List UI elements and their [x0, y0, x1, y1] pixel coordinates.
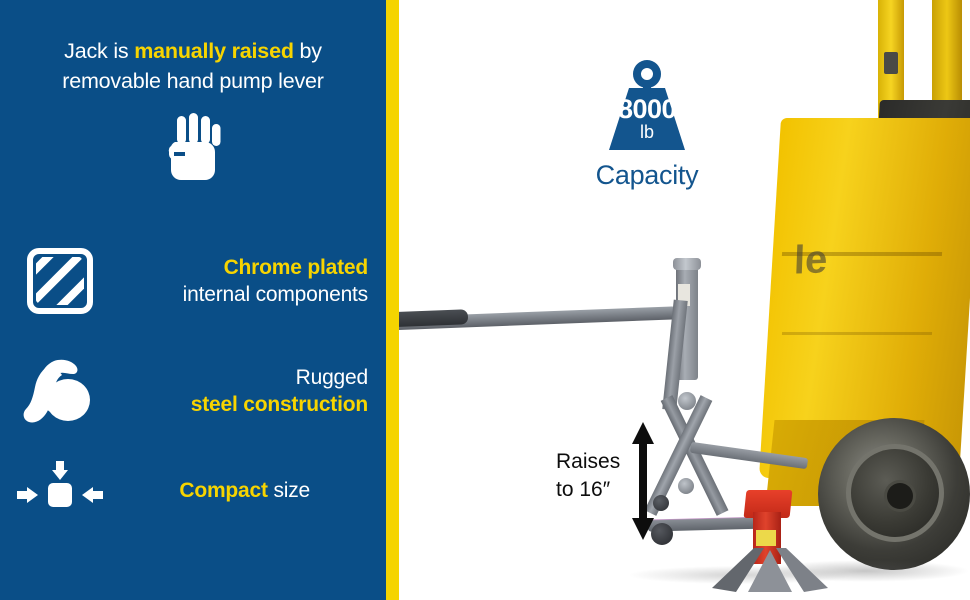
feature-compact-plain: size — [268, 479, 310, 502]
feature-line1-steel: Rugged — [296, 366, 368, 389]
feature-text-compact-size: Compact size — [106, 477, 376, 504]
headline-line1-pre: Jack is — [64, 39, 134, 63]
fist-icon — [165, 112, 225, 184]
raises-note-line1: Raises — [556, 450, 620, 473]
compact-arrows-icon — [14, 459, 106, 521]
headline-line1-post: by — [294, 39, 322, 63]
weight-icon: 8000 lb — [577, 58, 717, 158]
feature-row-steel-construction: Rugged steel construction — [14, 348, 376, 434]
yellow-divider-stripe — [386, 0, 399, 600]
feature-text-steel-construction: Rugged steel construction — [106, 364, 376, 418]
headline-line1-highlight: manually raised — [134, 39, 294, 63]
chrome-square-icon — [27, 248, 93, 314]
headline: Jack is manually raised by removable han… — [14, 36, 372, 96]
product-feature-banner: Jack is manually raised by removable han… — [0, 0, 970, 600]
capacity-badge: 8000 lb Capacity — [577, 58, 717, 193]
feature-compact-highlight: Compact — [179, 479, 267, 502]
feature-row-compact-size: Compact size — [14, 452, 376, 528]
raises-note-line2: to 16″ — [556, 478, 610, 501]
capacity-unit: lb — [577, 122, 717, 143]
bicep-icon — [23, 358, 97, 424]
raises-height-note: Raises to 16″ — [556, 448, 630, 504]
feature-line2-chrome: internal components — [183, 283, 368, 306]
compact-arrows-icon-wrap — [14, 459, 106, 521]
jack-stand-legs — [712, 548, 828, 592]
feature-text-chrome-plated: Chrome plated internal components — [106, 254, 376, 308]
feature-line2-steel: steel construction — [191, 393, 368, 416]
headline-line2: removable hand pump lever — [62, 69, 324, 93]
jack-stand-label — [756, 530, 776, 546]
bicep-icon-wrap — [14, 358, 106, 424]
capacity-number: 8000 — [577, 94, 717, 125]
double-arrow-icon — [631, 422, 655, 540]
feature-line1-chrome: Chrome plated — [224, 256, 368, 279]
capacity-label: Capacity — [577, 160, 717, 191]
feature-row-chrome-plated: Chrome plated internal components — [14, 238, 376, 324]
chrome-square-icon-wrap — [14, 248, 106, 314]
